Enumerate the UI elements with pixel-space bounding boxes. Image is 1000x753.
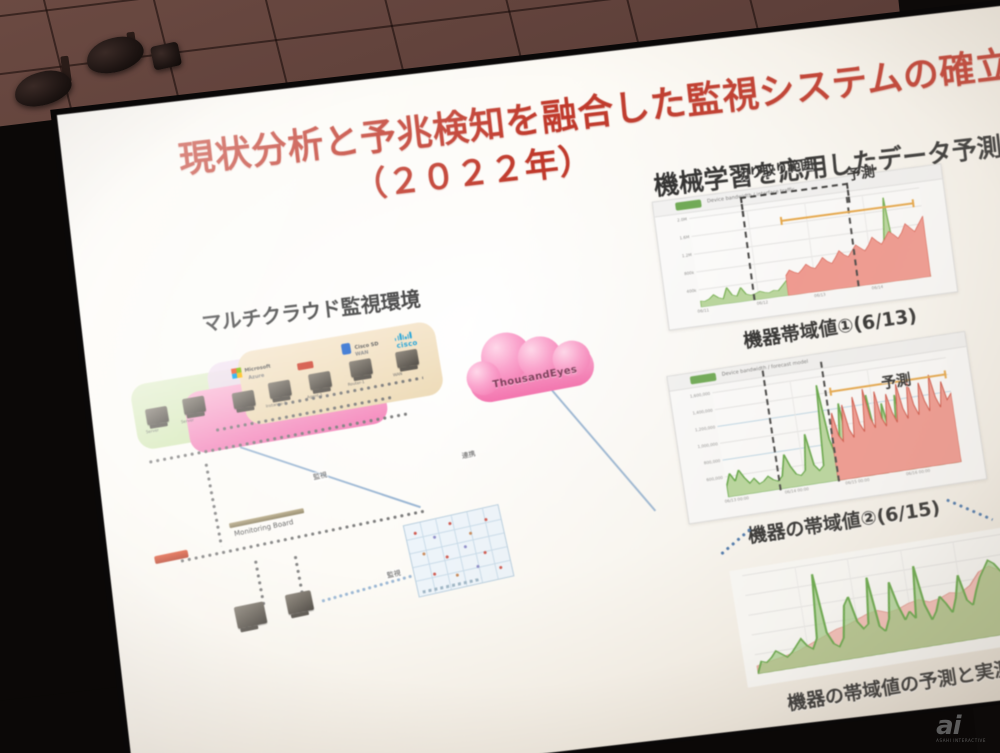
server-icon bbox=[182, 396, 206, 415]
projection-screen: 現状分析と予兆検知を融合した監視システムの確立 （２０２２年） マルチクラウド監… bbox=[8, 0, 1000, 753]
edge-label-monitor: 監視 bbox=[311, 470, 329, 483]
microsoft-logo-icon bbox=[231, 367, 243, 379]
chart-plot-area-3 bbox=[742, 533, 1000, 674]
watermark-text: ai bbox=[936, 711, 960, 741]
network-drop-line bbox=[254, 558, 266, 608]
server-icon bbox=[232, 390, 256, 409]
series-actual-area-3 bbox=[744, 543, 1000, 674]
server-icon bbox=[349, 358, 373, 377]
chart2-annotation-forecast: 予測 bbox=[880, 368, 913, 393]
watermark-sub: ASAHI INTERACTIVE bbox=[936, 738, 986, 743]
chart-series-svg-3 bbox=[742, 533, 1000, 674]
edge-label-integration: 連携 bbox=[460, 449, 478, 462]
chart1-annotation-forecast: 予測 bbox=[846, 161, 877, 185]
monitoring-dashboard-tile bbox=[403, 504, 515, 598]
thousandeyes-cloud bbox=[459, 315, 600, 408]
photo-of-presentation-screen: 現状分析と予兆検知を融合した監視システムの確立 （２０２２年） マルチクラウド監… bbox=[0, 0, 1000, 753]
link-line-to-dashboard bbox=[240, 446, 421, 508]
series-forecast-area-1 bbox=[780, 216, 931, 296]
callout-dash-right bbox=[944, 498, 993, 521]
group-box-public-cloud bbox=[236, 320, 446, 426]
server-icon bbox=[234, 601, 268, 629]
slide-surface: 現状分析と予兆検知を融合した監視システムの確立 （２０２２年） マルチクラウド監… bbox=[57, 0, 1000, 753]
server-icon bbox=[395, 349, 419, 368]
link-line-cloud-to-dashboard bbox=[544, 381, 656, 511]
server-icon bbox=[268, 380, 292, 399]
chart-card-2: Device bandwidth / forecast model bbox=[666, 331, 987, 524]
server-icon bbox=[145, 406, 169, 425]
watermark-logo: ai ASAHI INTERACTIVE bbox=[936, 711, 986, 743]
server-icon bbox=[285, 590, 314, 615]
server-icon bbox=[308, 371, 332, 390]
sdwan-badge-icon bbox=[341, 343, 352, 355]
multicloud-network-diagram: Microsoft Azure Cisco SD WAN cisco Serve… bbox=[109, 301, 675, 753]
network-drop-line bbox=[204, 462, 223, 547]
callout-dash-left bbox=[719, 527, 753, 557]
